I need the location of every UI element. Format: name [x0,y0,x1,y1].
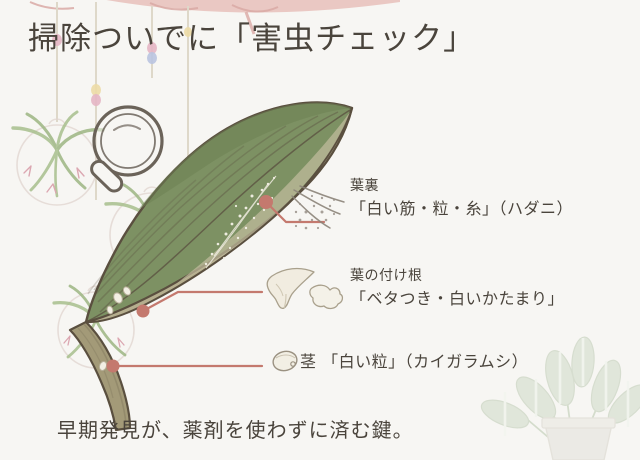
spider-mite-webbing-icon [292,186,344,229]
leader-line-leaf-base [143,292,262,311]
mite-speckles-on-leaf [205,177,275,265]
marker-dot-stem [107,360,120,373]
spider-plant-decorations [13,112,200,357]
annotation-leaf-base: 葉の付け根 「ベタつき・白いかたまり」 [350,266,564,311]
honeydew-drip-icon [267,269,342,309]
leader-line-leaf-underside [266,202,324,222]
webbing-on-leaf [206,176,276,268]
scale-insects-on-plant [98,286,132,372]
leaf-veins [88,110,350,321]
marker-dot-leaf-underside [259,195,273,209]
infographic-canvas: 掃除ついでに「害虫チェック」 葉裏 「白い筋・粒・糸」（ハダニ） 葉の付け根 「… [0,0,640,460]
annotation-head: 葉裏 [350,176,573,197]
annotation-leaf-underside: 葉裏 「白い筋・粒・糸」（ハダニ） [350,176,573,221]
background-decoration [0,0,640,460]
leaf-blade [86,102,352,322]
leader-dots [107,195,274,373]
marker-dot-leaf-base [137,305,150,318]
annotation-body: 「ベタつき・白いかたまり」 [350,287,564,311]
caption-text: 早期発見が、薬剤を使わずに済む鍵。 [57,414,414,443]
annotation-head: 葉の付け根 [350,266,564,287]
annotation-body: 茎 「白い粒」（カイガラムシ） [300,350,528,374]
magnifying-glass-icon [88,107,162,194]
leaf-illustration [0,0,640,460]
leader-lines [113,202,324,366]
annotation-stem: 茎 「白い粒」（カイガラムシ） [300,350,528,374]
annotation-body: 「白い筋・粒・糸」（ハダニ） [350,197,573,221]
page-title: 掃除ついでに「害虫チェック」 [28,20,475,59]
scale-insect-icon [271,349,299,373]
terrarium-globes [17,119,194,368]
